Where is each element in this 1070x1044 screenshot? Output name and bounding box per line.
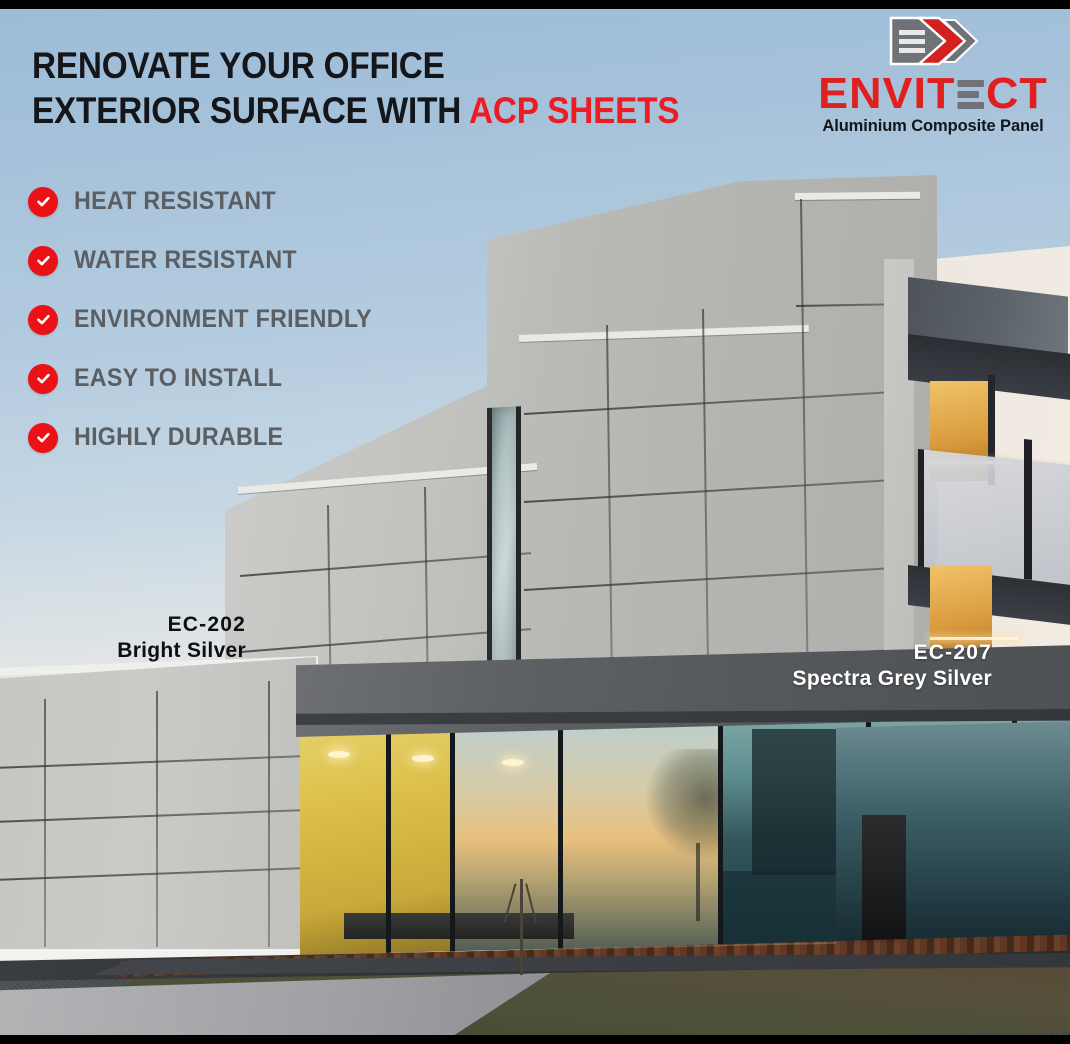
product-name: Spectra Grey Silver bbox=[742, 666, 992, 692]
logo-word-part2: CT bbox=[986, 72, 1048, 116]
product-callout-left: EC-202 Bright Silver bbox=[86, 612, 246, 663]
feature-label: EASY TO INSTALL bbox=[74, 364, 282, 393]
brand-logo: ENVIT CT Aluminium Composite Panel bbox=[794, 14, 1070, 136]
product-code: EC-202 bbox=[86, 612, 246, 638]
feature-label: HEAT RESISTANT bbox=[74, 187, 276, 216]
list-item: HEAT RESISTANT bbox=[28, 172, 394, 231]
letterbox-bar-top bbox=[0, 0, 1070, 9]
list-item: ENVIRONMENT FRIENDLY bbox=[28, 290, 394, 349]
list-item: WATER RESISTANT bbox=[28, 231, 394, 290]
check-circle-icon bbox=[28, 246, 58, 276]
product-name: Bright Silver bbox=[86, 638, 246, 664]
product-code: EC-207 bbox=[742, 640, 992, 666]
logo-tagline: Aluminium Composite Panel bbox=[794, 117, 1070, 136]
feature-list: HEAT RESISTANT WATER RESISTANT ENVIRONME… bbox=[28, 172, 394, 467]
list-item: HIGHLY DURABLE bbox=[28, 408, 394, 467]
headline-line-2-prefix: EXTERIOR SURFACE WITH bbox=[32, 90, 469, 131]
headline-accent: ACP SHEETS bbox=[469, 90, 679, 131]
logo-wordmark: ENVIT CT bbox=[791, 72, 1070, 116]
page-title: RENOVATE YOUR OFFICE EXTERIOR SURFACE WI… bbox=[32, 44, 626, 134]
marketing-overlay: RENOVATE YOUR OFFICE EXTERIOR SURFACE WI… bbox=[0, 0, 1070, 1044]
product-callout-right: EC-207 Spectra Grey Silver bbox=[742, 640, 992, 691]
check-circle-icon bbox=[28, 187, 58, 217]
check-circle-icon bbox=[28, 423, 58, 453]
logo-word-part1: ENVIT bbox=[818, 72, 955, 116]
letterbox-bar-bottom bbox=[0, 1035, 1070, 1044]
list-item: EASY TO INSTALL bbox=[28, 349, 394, 408]
logo-letter-e-bars bbox=[957, 77, 984, 111]
check-circle-icon bbox=[28, 305, 58, 335]
feature-label: HIGHLY DURABLE bbox=[74, 423, 283, 452]
double-chevron-icon bbox=[794, 14, 1070, 70]
feature-label: WATER RESISTANT bbox=[74, 246, 297, 275]
advertisement-canvas: DE JAGGARDS ARCHITECTS OFFICE bbox=[0, 0, 1070, 1044]
check-circle-icon bbox=[28, 364, 58, 394]
feature-label: ENVIRONMENT FRIENDLY bbox=[74, 305, 372, 334]
headline-line-1: RENOVATE YOUR OFFICE bbox=[32, 44, 626, 89]
headline-line-2: EXTERIOR SURFACE WITH ACP SHEETS bbox=[32, 89, 626, 134]
